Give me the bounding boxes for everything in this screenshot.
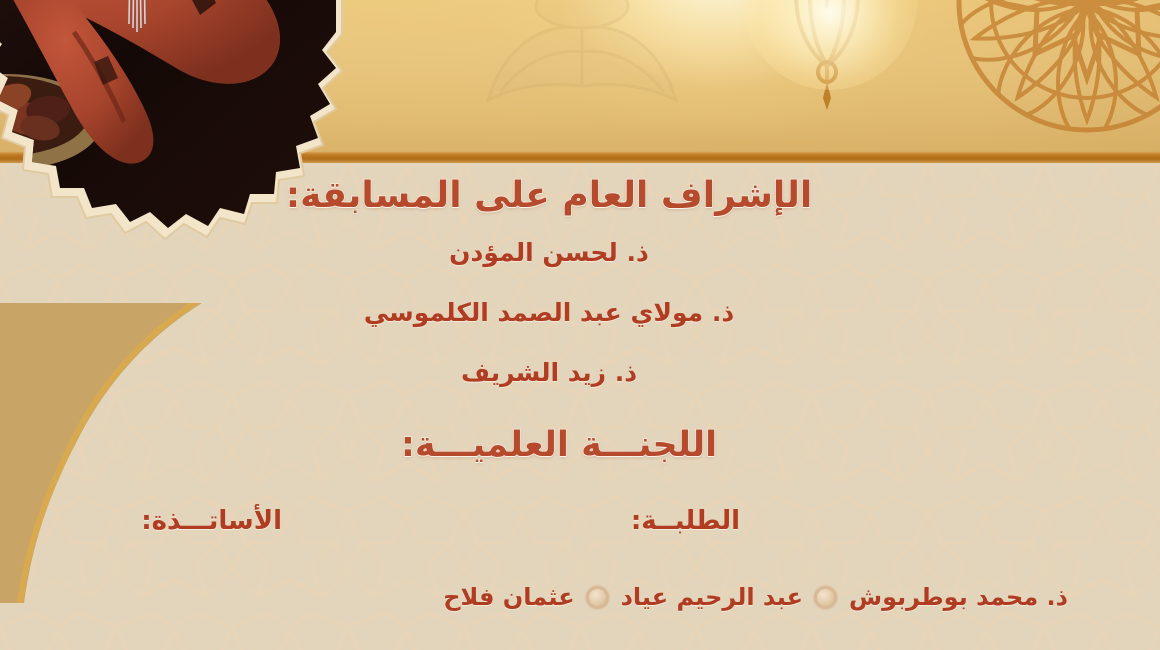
bullet-dot-icon [586, 586, 609, 609]
committee-member-1: ذ. محمد بوطربوش [849, 583, 1068, 611]
committee-heading: اللجنـــة العلميـــة: [0, 425, 1160, 465]
committee-member-2: عبد الرحيم عياد [621, 583, 803, 611]
supervisor-name-1: ذ. لحسن المؤدن [0, 238, 1160, 267]
supervision-heading: الإشراف العام على المسابقة: [0, 175, 1160, 216]
slide-content: الإشراف العام على المسابقة: ذ. لحسن المؤ… [0, 163, 1160, 650]
bullet-separator-icon [803, 586, 849, 609]
subheading-teachers: الأساتـــذة: [141, 506, 282, 536]
committee-member-3: عثمان فلاح [443, 583, 574, 611]
lantern-icon [782, 0, 872, 116]
slide-canvas: الإشراف العام على المسابقة: ذ. لحسن المؤ… [0, 0, 1160, 650]
subheading-students: الطلبــة: [631, 506, 740, 536]
bullet-dot-icon [814, 586, 837, 609]
committee-members-row: ذ. محمد بوطربوش عبد الرحيم عياد عثمان فل… [0, 583, 1160, 611]
committee-subheading-row: الأساتـــذة: الطلبــة: [0, 506, 1160, 546]
bullet-separator-icon [575, 586, 621, 609]
supervisor-name-2: ذ. مولاي عبد الصمد الكلموسي [0, 298, 1160, 327]
supervisor-name-3: ذ. زيد الشريف [0, 358, 1160, 387]
book-silhouette-icon [470, 0, 700, 162]
